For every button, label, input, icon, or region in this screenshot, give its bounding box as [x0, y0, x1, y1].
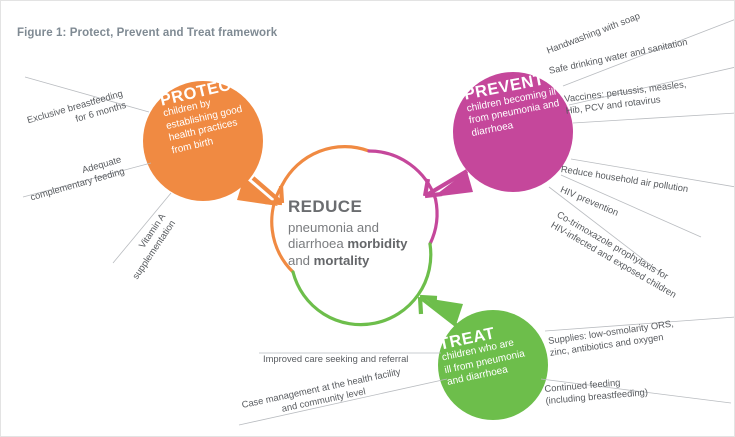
- node-protect[interactable]: [143, 81, 282, 206]
- treat-tail: [425, 298, 463, 325]
- node-prevent[interactable]: [425, 72, 573, 197]
- framework-diagram-canvas: [1, 1, 735, 437]
- hub-ring-arc-orange: [283, 147, 370, 185]
- hub-ring-arc-magenta-lower: [430, 199, 437, 244]
- prevent-circle: [453, 72, 573, 192]
- hub-ring-arc-green: [293, 244, 431, 325]
- hub-ring: [272, 147, 437, 325]
- node-treat[interactable]: [420, 297, 548, 420]
- prevent-leader-lines: [549, 19, 735, 273]
- figure-container: Figure 1: Protect, Prevent and Treat fra…: [0, 0, 735, 437]
- protect-leader-lines: [23, 77, 171, 263]
- protect-circle: [143, 81, 263, 201]
- treat-circle: [438, 310, 548, 420]
